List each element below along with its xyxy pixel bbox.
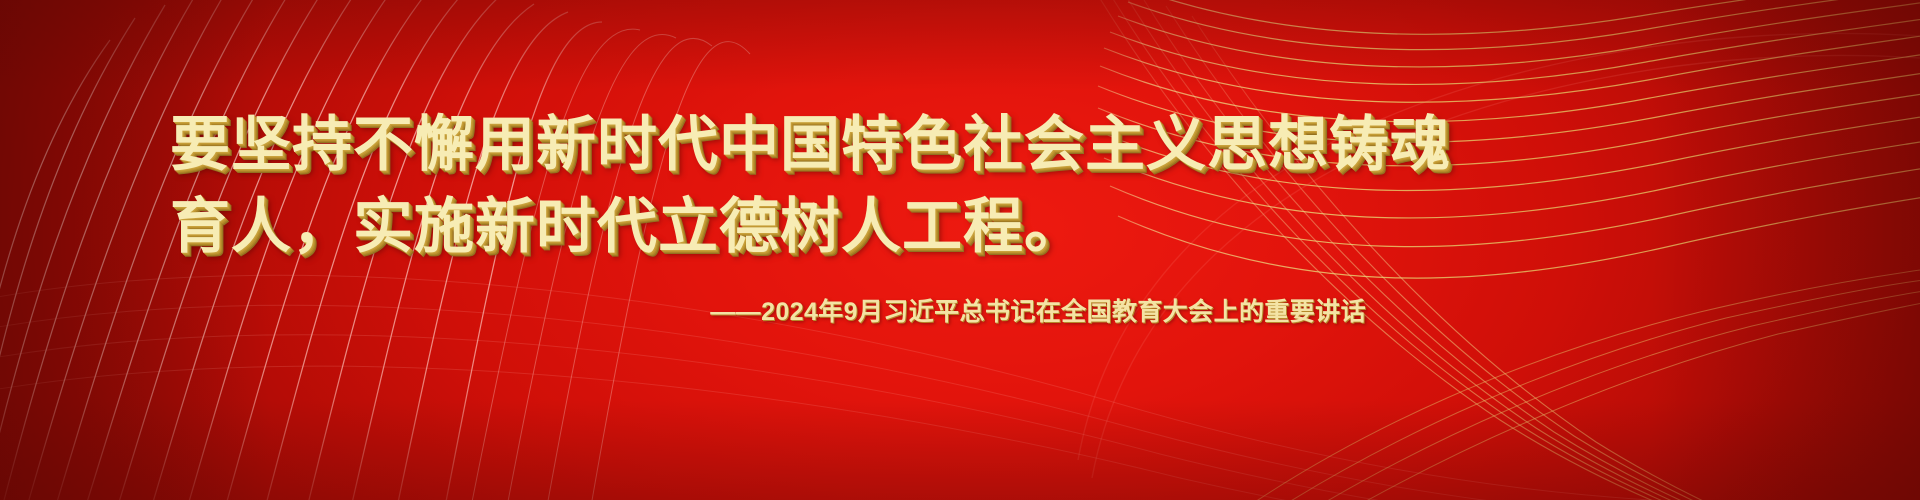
banner-text-block: 要坚持不懈用新时代中国特色社会主义思想铸魂 育人，实施新时代立德树人工程。 ——… <box>0 0 1920 500</box>
quote-attribution: ——2024年9月习近平总书记在全国教育大会上的重要讲话 <box>170 292 1366 328</box>
headline-line-2: 育人，实施新时代立德树人工程。 <box>170 197 1380 257</box>
red-celebration-banner: 要坚持不懈用新时代中国特色社会主义思想铸魂 育人，实施新时代立德树人工程。 ——… <box>0 0 1920 500</box>
headline-line-1: 要坚持不懈用新时代中国特色社会主义思想铸魂 <box>170 115 1380 175</box>
